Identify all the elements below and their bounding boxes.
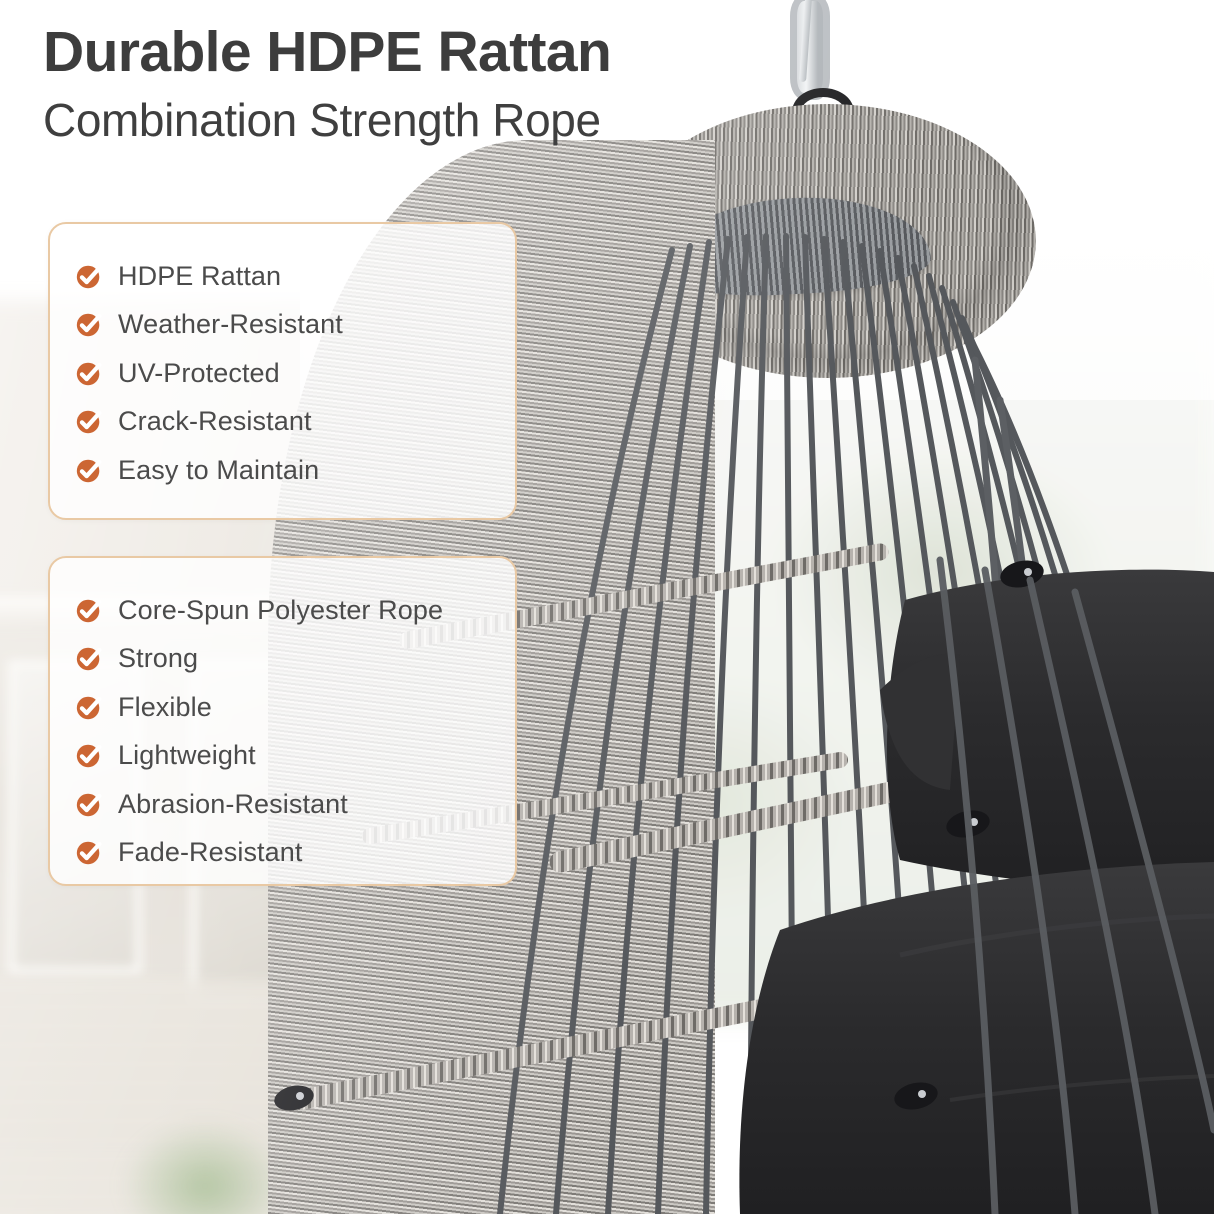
check-circle-icon <box>76 361 101 386</box>
list-item: Abrasion-Resistant <box>76 780 515 829</box>
feature-label: Easy to Maintain <box>118 455 319 486</box>
feature-label: Flexible <box>118 692 212 723</box>
feature-label: Abrasion-Resistant <box>118 789 348 820</box>
list-item: Weather-Resistant <box>76 301 515 350</box>
check-circle-icon <box>76 840 101 865</box>
list-item: Strong <box>76 635 515 684</box>
feature-list-polyester-rope: Core-Spun Polyester Rope Strong Flexible <box>50 558 515 877</box>
check-circle-icon <box>76 695 101 720</box>
feature-label: Weather-Resistant <box>118 309 343 340</box>
check-circle-icon <box>76 598 101 623</box>
feature-box-polyester-rope: Core-Spun Polyester Rope Strong Flexible <box>48 556 517 886</box>
list-item: Easy to Maintain <box>76 446 515 495</box>
check-circle-icon <box>76 743 101 768</box>
feature-label: UV-Protected <box>118 358 280 389</box>
list-item: Crack-Resistant <box>76 398 515 447</box>
check-circle-icon <box>76 409 101 434</box>
page-subtitle: Combination Strength Rope <box>43 95 823 146</box>
list-item: Fade-Resistant <box>76 829 515 878</box>
feature-label: Lightweight <box>118 740 256 771</box>
check-circle-icon <box>76 646 101 671</box>
feature-list-hdpe-rattan: HDPE Rattan Weather-Resistant UV-Protect… <box>50 224 515 495</box>
list-item: Core-Spun Polyester Rope <box>76 586 515 635</box>
feature-label: Strong <box>118 643 198 674</box>
list-item: HDPE Rattan <box>76 252 515 301</box>
feature-label: Fade-Resistant <box>118 837 302 868</box>
page-title: Durable HDPE Rattan <box>43 22 743 82</box>
check-circle-icon <box>76 458 101 483</box>
feature-box-hdpe-rattan: HDPE Rattan Weather-Resistant UV-Protect… <box>48 222 517 520</box>
feature-label: HDPE Rattan <box>118 261 281 292</box>
list-item: Flexible <box>76 683 515 732</box>
check-circle-icon <box>76 792 101 817</box>
check-circle-icon <box>76 264 101 289</box>
product-infographic: Durable HDPE Rattan Combination Strength… <box>0 0 1214 1214</box>
check-circle-icon <box>76 312 101 337</box>
list-item: UV-Protected <box>76 349 515 398</box>
feature-label: Core-Spun Polyester Rope <box>118 595 443 626</box>
feature-label: Crack-Resistant <box>118 406 312 437</box>
list-item: Lightweight <box>76 732 515 781</box>
